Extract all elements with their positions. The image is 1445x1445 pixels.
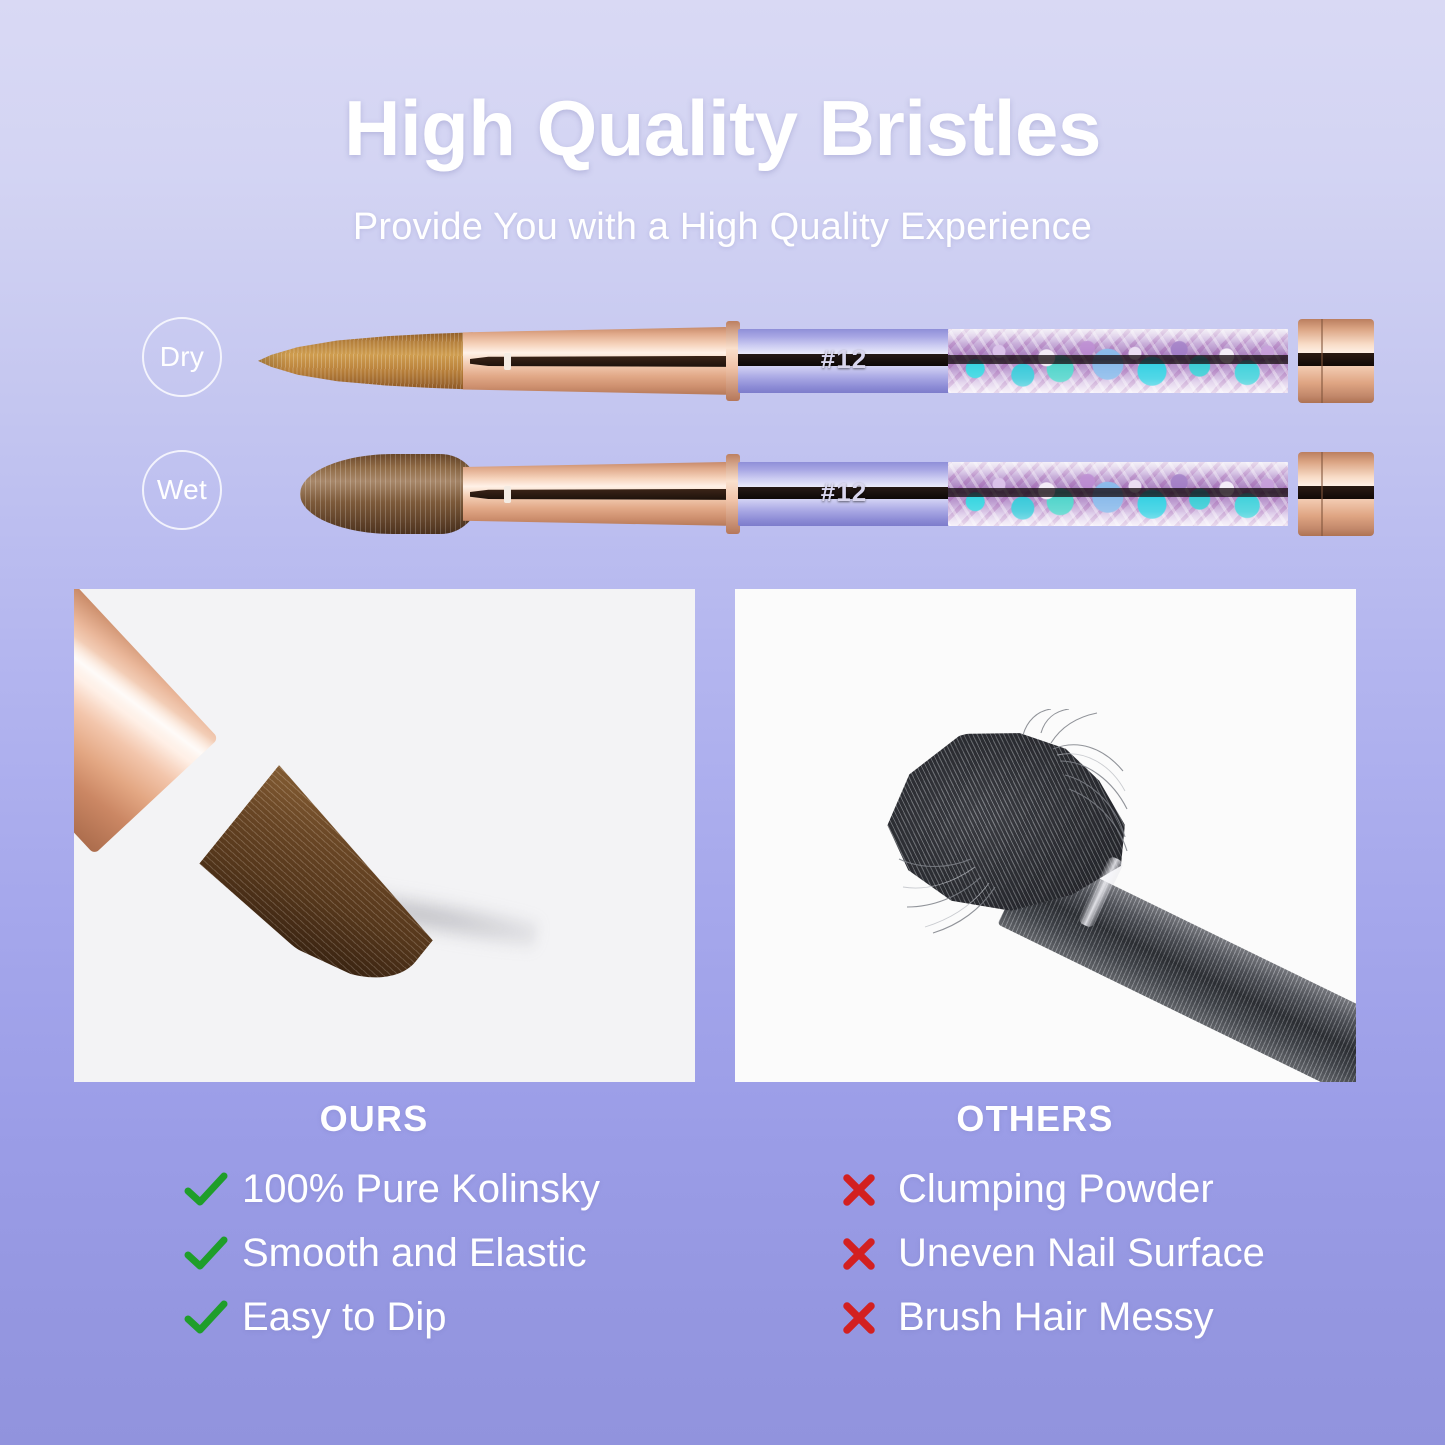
others-brush-photo [735, 589, 1356, 1082]
ours-brush-photo [74, 589, 695, 1082]
page-subtitle: Provide You with a High Quality Experien… [0, 206, 1445, 249]
brush-dry: #12 [258, 301, 1358, 421]
cross-icon [840, 1235, 898, 1273]
page-title: High Quality Bristles [0, 88, 1445, 170]
ferrule-highlight-dot [504, 353, 511, 370]
clean-bristle-tip-icon [196, 765, 458, 1012]
state-badge-label: Wet [157, 474, 207, 506]
pointed-bristle-tip-icon [258, 331, 478, 391]
endcap-stripe [1298, 486, 1374, 499]
state-badge-wet: Wet [142, 450, 222, 530]
brush-row-wet: Wet #12 [0, 434, 1445, 554]
photo-comparison [0, 589, 1445, 1084]
ferrule-highlight-dot [504, 486, 511, 503]
list-item-label: Brush Hair Messy [898, 1295, 1214, 1340]
brush-size-label: #12 [738, 344, 950, 375]
list-item: Easy to Dip [184, 1286, 674, 1350]
ours-column-title: OURS [74, 1098, 674, 1140]
endcap-seam [1321, 319, 1323, 403]
endcap-seam [1321, 452, 1323, 536]
list-item: Clumping Powder [840, 1158, 1335, 1222]
others-feature-list: Clumping Powder Uneven Nail Surface Brus… [735, 1158, 1335, 1350]
list-item: Brush Hair Messy [840, 1286, 1335, 1350]
brush-showcase: Dry #12 Wet [0, 301, 1445, 561]
glitter-handle-stripe [948, 488, 1288, 497]
feature-comparison: OURS 100% Pure Kolinsky Smooth and Elast… [0, 1098, 1445, 1348]
ours-feature-list: 100% Pure Kolinsky Smooth and Elastic Ea… [74, 1158, 674, 1350]
brush-wet: #12 [258, 434, 1358, 554]
cross-icon [840, 1299, 898, 1337]
handle-highlight [74, 589, 219, 854]
rounded-bristle-tip-icon [300, 454, 480, 534]
header: High Quality Bristles Provide You with a… [0, 0, 1445, 249]
list-item-label: Smooth and Elastic [242, 1231, 587, 1276]
list-item: Smooth and Elastic [184, 1222, 674, 1286]
others-column-title: OTHERS [735, 1098, 1335, 1140]
endcap-stripe [1298, 353, 1374, 366]
check-icon [184, 1171, 242, 1209]
cross-icon [840, 1171, 898, 1209]
list-item-label: Easy to Dip [242, 1295, 447, 1340]
state-badge-label: Dry [160, 341, 204, 373]
stray-hairs-icon [855, 709, 1155, 939]
state-badge-dry: Dry [142, 317, 222, 397]
brush-row-dry: Dry #12 [0, 301, 1445, 421]
list-item-label: Clumping Powder [898, 1167, 1214, 1212]
brush-size-label: #12 [738, 477, 950, 508]
list-item: 100% Pure Kolinsky [184, 1158, 674, 1222]
ours-column: OURS 100% Pure Kolinsky Smooth and Elast… [74, 1098, 674, 1350]
list-item-label: 100% Pure Kolinsky [242, 1167, 600, 1212]
list-item-label: Uneven Nail Surface [898, 1231, 1265, 1276]
check-icon [184, 1299, 242, 1337]
check-icon [184, 1235, 242, 1273]
glitter-handle-stripe [948, 355, 1288, 364]
others-column: OTHERS Clumping Powder Uneven Nail Surfa… [735, 1098, 1335, 1350]
list-item: Uneven Nail Surface [840, 1222, 1335, 1286]
